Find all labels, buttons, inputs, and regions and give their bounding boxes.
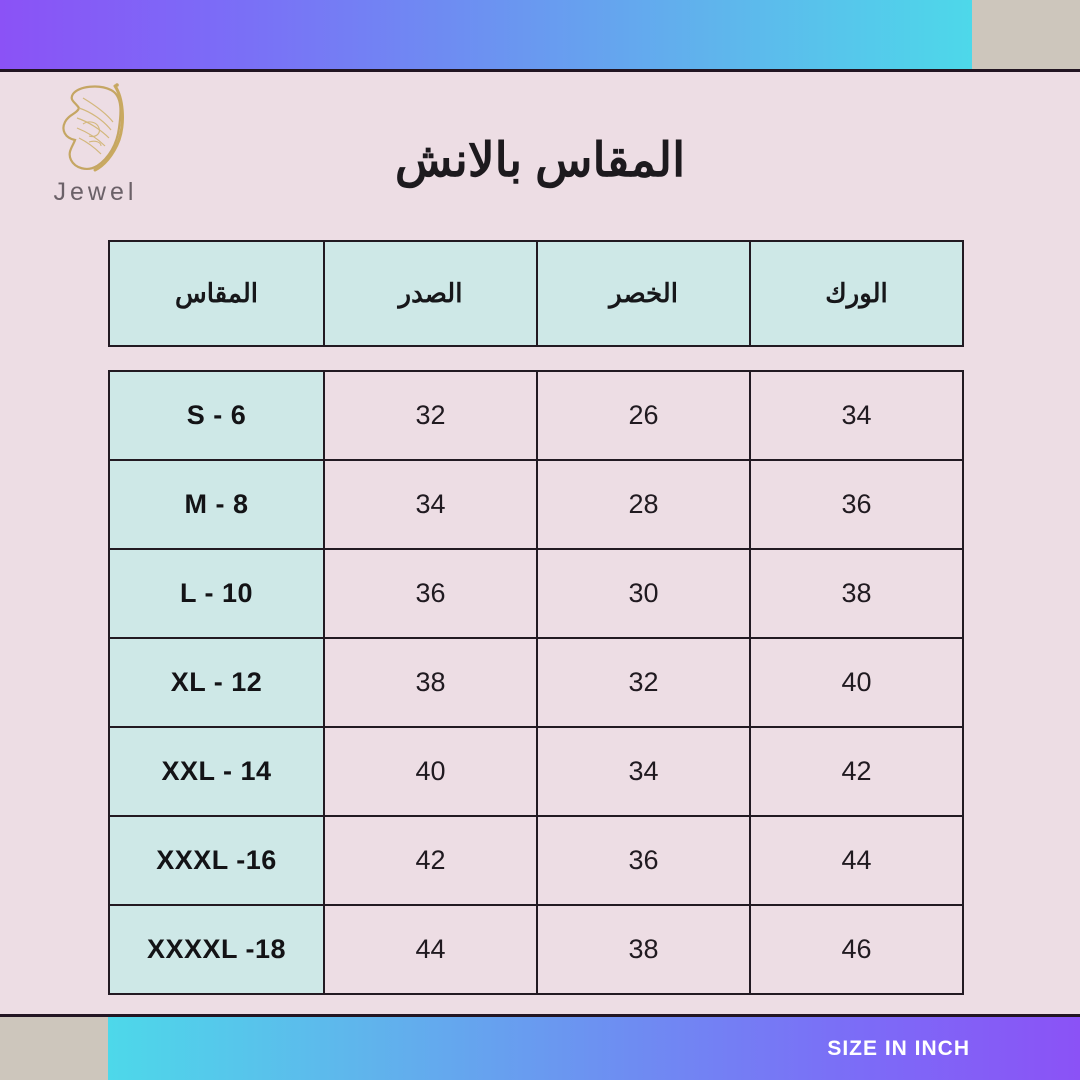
cell-waist: 34 — [536, 726, 751, 817]
cell-chest: 42 — [323, 815, 538, 906]
cell-waist: 26 — [536, 370, 751, 461]
table-row: XXXL -16 42 36 44 — [108, 817, 970, 906]
cell-chest: 32 — [323, 370, 538, 461]
column-header-hip: الورك — [749, 240, 964, 347]
cell-chest: 34 — [323, 459, 538, 550]
column-header-size: المقاس — [108, 240, 325, 347]
table-header-row: المقاس الصدر الخصر الورك — [108, 242, 970, 347]
top-bar-gradient — [0, 0, 972, 70]
cell-size: XXXXL -18 — [108, 904, 325, 995]
top-bar-divider — [0, 69, 1080, 72]
size-table: المقاس الصدر الخصر الورك S - 6 32 26 34 … — [108, 242, 970, 995]
bottom-decorative-bar: SIZE IN INCH — [0, 1014, 1080, 1080]
table-row: XXXXL -18 44 38 46 — [108, 906, 970, 995]
top-decorative-bar — [0, 0, 1080, 71]
column-header-waist: الخصر — [536, 240, 751, 347]
cell-hip: 38 — [749, 548, 964, 639]
cell-waist: 38 — [536, 904, 751, 995]
cell-waist: 36 — [536, 815, 751, 906]
cell-chest: 44 — [323, 904, 538, 995]
table-row: XL - 12 38 32 40 — [108, 639, 970, 728]
cell-waist: 32 — [536, 637, 751, 728]
table-row: M - 8 34 28 36 — [108, 461, 970, 550]
cell-size: XXXL -16 — [108, 815, 325, 906]
cell-hip: 44 — [749, 815, 964, 906]
footer-caption: SIZE IN INCH — [827, 1037, 970, 1061]
cell-hip: 34 — [749, 370, 964, 461]
cell-hip: 46 — [749, 904, 964, 995]
column-header-chest: الصدر — [323, 240, 538, 347]
page-title: المقاس بالانش — [0, 132, 1080, 188]
cell-chest: 40 — [323, 726, 538, 817]
cell-size: M - 8 — [108, 459, 325, 550]
cell-size: L - 10 — [108, 548, 325, 639]
table-row: XXL - 14 40 34 42 — [108, 728, 970, 817]
cell-hip: 36 — [749, 459, 964, 550]
table-row: L - 10 36 30 38 — [108, 550, 970, 639]
cell-size: S - 6 — [108, 370, 325, 461]
cell-size: XL - 12 — [108, 637, 325, 728]
bottom-bar-gradient: SIZE IN INCH — [108, 1017, 1080, 1080]
table-row: S - 6 32 26 34 — [108, 372, 970, 461]
cell-chest: 38 — [323, 637, 538, 728]
size-chart-page: Jewel المقاس بالانش المقاس الصدر الخصر ا… — [0, 0, 1080, 1080]
cell-hip: 40 — [749, 637, 964, 728]
cell-hip: 42 — [749, 726, 964, 817]
cell-waist: 28 — [536, 459, 751, 550]
cell-size: XXL - 14 — [108, 726, 325, 817]
cell-chest: 36 — [323, 548, 538, 639]
cell-waist: 30 — [536, 548, 751, 639]
